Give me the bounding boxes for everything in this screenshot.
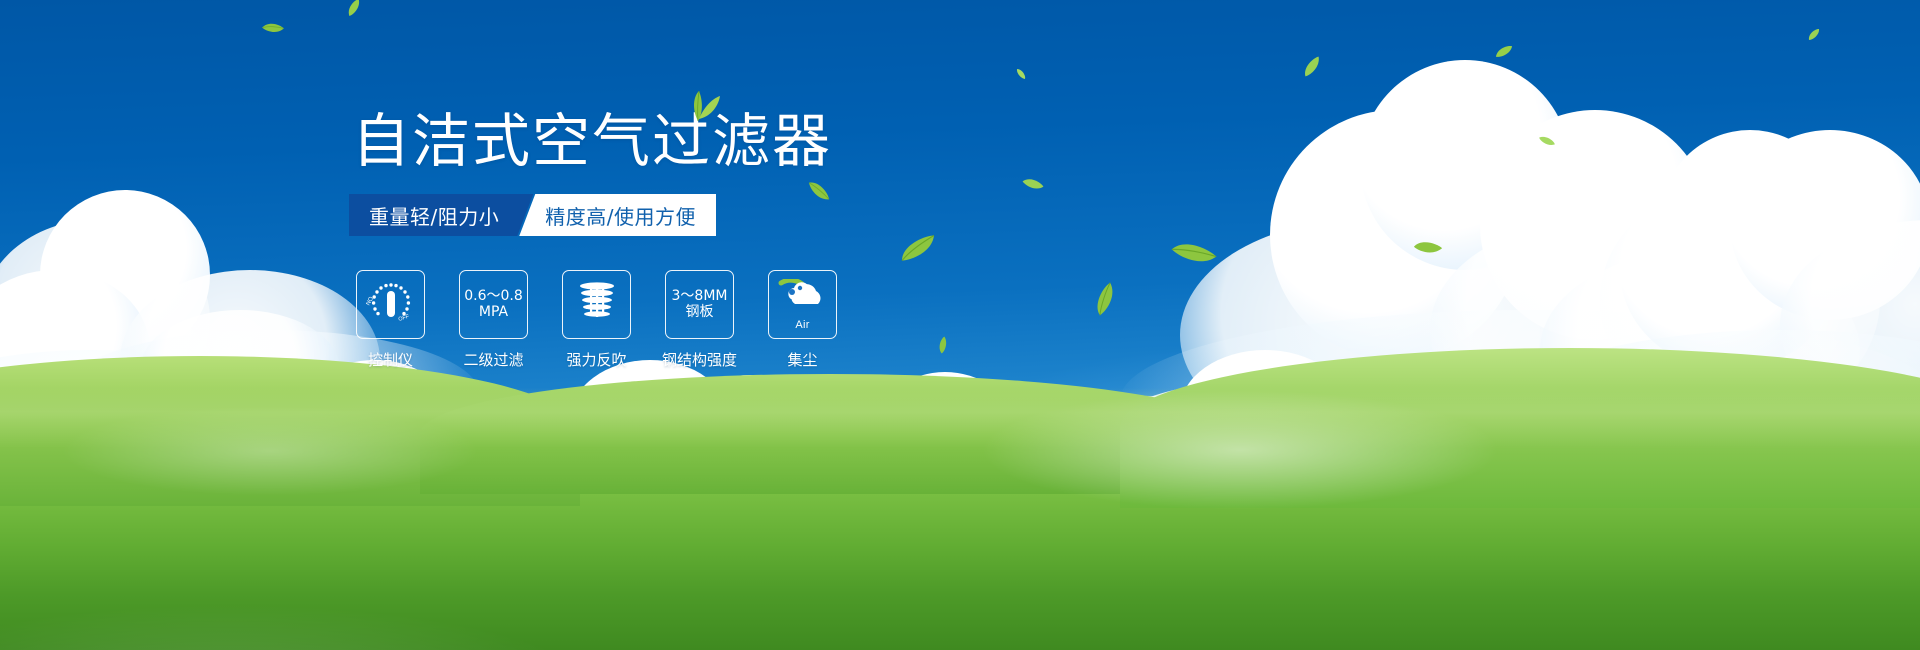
feature-item-steel-strength[interactable]: 3～8MM 钢板 钢结构强度 <box>665 270 734 370</box>
feature-label: 集尘 <box>787 349 817 370</box>
feature-text-line2: MPA <box>464 305 523 321</box>
gauge-dial-icon: NO OFF <box>366 279 416 330</box>
feature-icon-box: Air <box>768 270 837 339</box>
feature-text: 0.6～0.8 MPA <box>464 289 523 320</box>
feature-text: 3～8MM 钢板 <box>672 289 728 320</box>
svg-text:OFF: OFF <box>397 314 410 323</box>
feature-icon-box: NO OFF <box>356 270 425 339</box>
feature-item-two-stage-filter[interactable]: 0.6～0.8 MPA 二级过滤 <box>459 270 528 370</box>
tag-primary[interactable]: 重量轻/阻力小 <box>349 194 533 236</box>
title-leaf-icon <box>676 88 722 127</box>
page-title: 自洁式空气过滤器 <box>352 112 832 170</box>
feature-icon-box <box>562 270 631 339</box>
feature-item-dust-collection[interactable]: Air 集尘 <box>768 270 837 370</box>
feature-label: 二级过滤 <box>463 349 523 370</box>
feature-list: NO OFF 控制仪 0.6～0.8 MPA 二级过滤 <box>356 270 837 370</box>
filter-cartridge-icon <box>573 279 621 330</box>
feature-label: 强力反吹 <box>566 349 626 370</box>
feature-text-line2: 钢板 <box>672 305 728 321</box>
promo-banner: 自洁式空气过滤器 重量轻/阻力小 精度高/使用方便 <box>0 0 1920 650</box>
feature-item-control-meter[interactable]: NO OFF 控制仪 <box>356 270 425 370</box>
feature-icon-box: 0.6～0.8 MPA <box>459 270 528 339</box>
tag-secondary[interactable]: 精度高/使用方便 <box>519 194 716 236</box>
banner-content: 自洁式空气过滤器 重量轻/阻力小 精度高/使用方便 <box>0 0 1920 650</box>
feature-label: 控制仪 <box>368 349 413 370</box>
subtitle-tags: 重量轻/阻力小 精度高/使用方便 <box>349 194 716 236</box>
feature-item-reverse-blow[interactable]: 强力反吹 <box>562 270 631 370</box>
feature-text-line1: 3～8MM <box>672 288 728 304</box>
cloud-air-icon <box>777 279 829 318</box>
feature-label: 钢结构强度 <box>662 349 737 370</box>
cloud-air-caption: Air <box>795 319 809 331</box>
feature-icon-box: 3～8MM 钢板 <box>665 270 734 339</box>
feature-text-line1: 0.6～0.8 <box>464 288 523 304</box>
